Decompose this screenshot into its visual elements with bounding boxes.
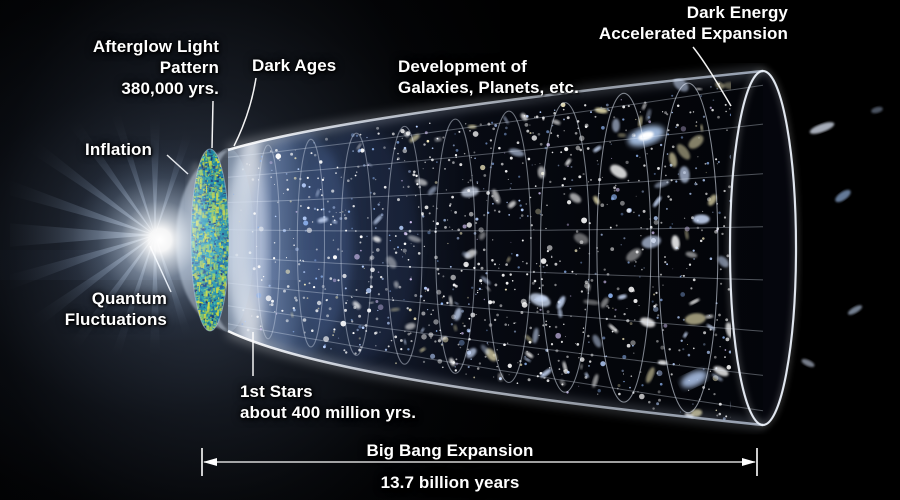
label-first-stars: 1st Stars about 400 million yrs. — [240, 381, 416, 423]
label-afterglow-light-pattern: Afterglow Light Pattern 380,000 yrs. — [93, 36, 219, 99]
label-dark-ages: Dark Ages — [252, 55, 336, 76]
label-development-of-galaxies: Development of Galaxies, Planets, etc. — [398, 56, 579, 98]
escaping-galaxies — [800, 106, 883, 369]
label-dark-energy: Dark Energy Accelerated Expansion — [599, 2, 788, 44]
leader-quantum — [150, 246, 171, 292]
universe-timeline-figure: Afterglow Light Pattern 380,000 yrs. Dar… — [0, 0, 900, 500]
label-quantum-fluctuations: Quantum Fluctuations — [65, 288, 167, 330]
scale-arrowhead-right — [742, 458, 756, 466]
big-bang-expansion-arrow — [0, 435, 900, 485]
leader-inflation — [167, 155, 188, 174]
label-inflation: Inflation — [85, 139, 152, 160]
scale-arrowhead-left — [203, 458, 217, 466]
leader-dark-ages — [234, 78, 256, 146]
leader-afterglow — [212, 101, 213, 148]
